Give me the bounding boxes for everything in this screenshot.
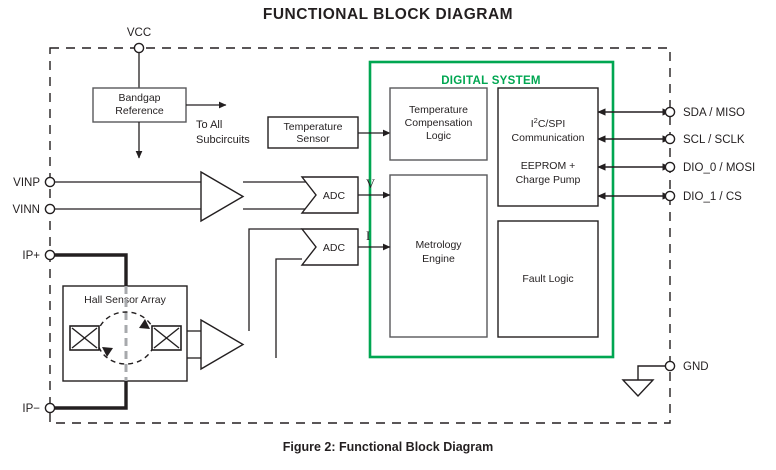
to-all-subcircuits-line2: Subcircuits: [196, 134, 250, 146]
pin-group-scl-sclk: SCL / SCLK: [598, 134, 745, 146]
amplifier-voltage: [201, 172, 243, 221]
pin-label-scl-sclk: SCL / SCLK: [683, 134, 745, 146]
digital-system-label: DIGITAL SYSTEM: [441, 75, 541, 87]
pin-gnd[interactable]: [665, 361, 674, 370]
amplifier-current: [201, 320, 243, 369]
pin-group-dio1-cs: DIO_1 / CS: [598, 191, 742, 203]
eeprom-label-line1: EEPROM +: [521, 160, 576, 172]
block-communication-eeprom: [498, 88, 598, 206]
diagram-canvas: DIGITAL SYSTEM VCC Bandgap Reference To …: [0, 0, 776, 470]
signal-label-voltage: V: [366, 177, 375, 191]
ip-plus-conductor: [55, 255, 126, 286]
figure-caption: Figure 2: Functional Block Diagram: [0, 440, 776, 454]
fault-logic-label: Fault Logic: [522, 273, 573, 285]
to-all-subcircuits-line1: To All: [196, 119, 222, 131]
ground-symbol: [623, 380, 653, 396]
pin-label-ip-minus: IP−: [22, 403, 40, 415]
hall-amp-bottom-route: [276, 259, 302, 358]
pin-group-sda-miso: SDA / MISO: [598, 107, 745, 119]
comm-label-line2: Communication: [512, 132, 585, 144]
temperature-sensor-label-line2: Sensor: [296, 133, 330, 145]
pin-dio1-cs[interactable]: [665, 191, 674, 200]
metrology-engine-label-line2: Engine: [422, 253, 455, 265]
pin-label-ip-plus: IP+: [22, 250, 40, 262]
pin-ip-minus[interactable]: [45, 403, 54, 412]
pin-label-vinn: VINN: [13, 204, 40, 216]
temp-comp-logic-label-line1: Temperature: [409, 104, 468, 116]
ip-minus-conductor: [55, 381, 126, 408]
pin-label-dio1-cs: DIO_1 / CS: [683, 191, 742, 203]
pin-dio0-mosi[interactable]: [665, 162, 674, 171]
pin-vinn[interactable]: [45, 204, 54, 213]
pin-label-gnd: GND: [683, 361, 709, 373]
adc-voltage-label: ADC: [323, 190, 346, 202]
pin-vinp[interactable]: [45, 177, 54, 186]
bandgap-reference-label-line2: Reference: [115, 105, 164, 117]
pin-label-vcc: VCC: [127, 27, 151, 39]
eeprom-label-line2: Charge Pump: [516, 174, 581, 186]
temperature-sensor-label-line1: Temperature: [284, 121, 343, 133]
pin-label-sda-miso: SDA / MISO: [683, 107, 745, 119]
adc-current-label: ADC: [323, 242, 346, 254]
pin-scl-sclk[interactable]: [665, 134, 674, 143]
pin-ip-plus[interactable]: [45, 250, 54, 259]
bandgap-reference-label-line1: Bandgap: [118, 92, 160, 104]
pin-vcc[interactable]: [134, 43, 143, 52]
pin-label-vinp: VINP: [13, 177, 40, 189]
temp-comp-logic-label-line2: Compensation: [405, 117, 473, 129]
functional-block-diagram: FUNCTIONAL BLOCK DIAGRAM DIGITAL SYSTEM …: [0, 0, 776, 470]
pin-label-dio0-mosi: DIO_0 / MOSI: [683, 162, 755, 174]
signal-label-current: I: [366, 229, 370, 243]
temp-comp-logic-label-line3: Logic: [426, 130, 451, 142]
metrology-engine-label-line1: Metrology: [415, 239, 462, 251]
pin-group-dio0-mosi: DIO_0 / MOSI: [598, 162, 755, 174]
pin-sda-miso[interactable]: [665, 107, 674, 116]
